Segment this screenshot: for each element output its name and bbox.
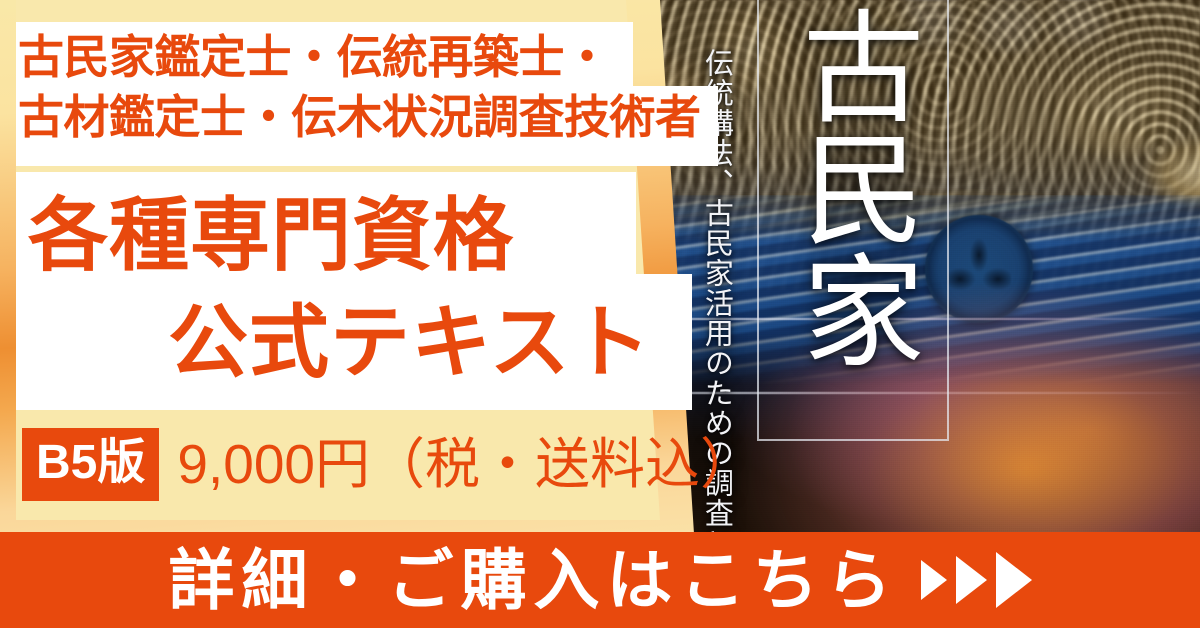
official-text-subhead: 各種専門資格 公式テキスト bbox=[20, 182, 696, 396]
triangle-right-icon bbox=[996, 552, 1032, 608]
cta-bar[interactable]: 詳細・ご購入はこちら bbox=[0, 532, 1200, 628]
subhead-line-2: 公式テキスト bbox=[20, 289, 696, 396]
cta-label: 詳細・ご購入はこちら bbox=[169, 547, 899, 613]
price-row: B5版 9,000円（税・送料込） bbox=[22, 428, 755, 501]
cta-arrow-group bbox=[921, 552, 1032, 608]
triangle-right-icon bbox=[956, 556, 987, 604]
qualifications-headline: 古民家鑑定士・伝統再築士・ 古材鑑定士・伝木状況調査技術者 bbox=[18, 28, 718, 148]
book-cover-title: 古民家 bbox=[782, 4, 922, 370]
format-badge-b5: B5版 bbox=[22, 428, 159, 501]
promo-banner: 古民家 伝統構法、古民家活用のための調査と再生の 古民家鑑定士・伝統再築士・ 古… bbox=[0, 0, 1200, 628]
triangle-right-icon bbox=[921, 560, 947, 600]
subhead-line-1: 各種専門資格 bbox=[20, 182, 696, 289]
price-amount: 9,000円（税・送料込） bbox=[177, 437, 755, 492]
